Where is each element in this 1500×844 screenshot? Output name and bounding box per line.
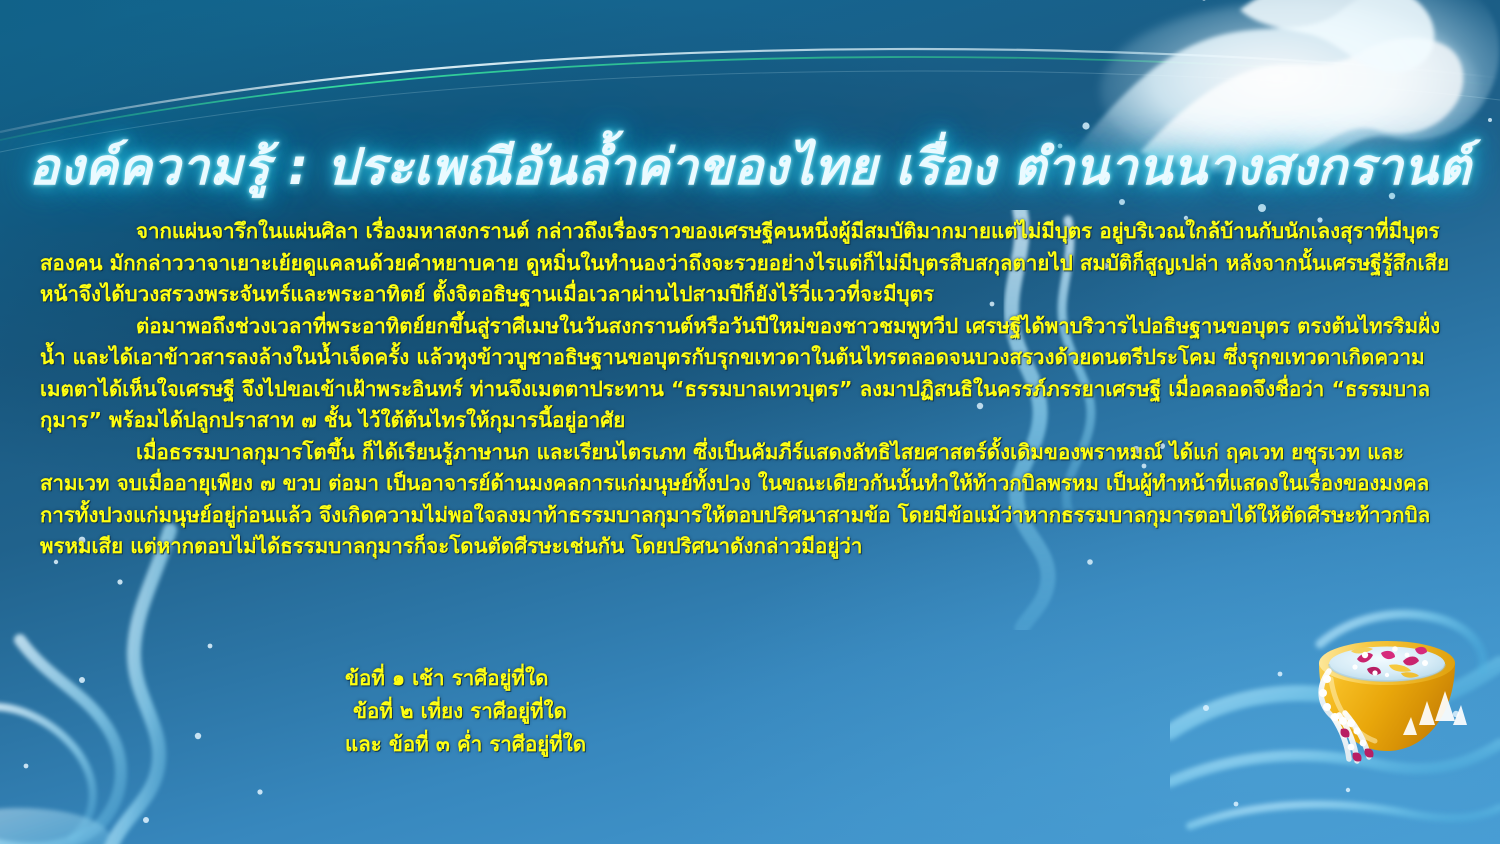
water-splash-left	[0, 520, 380, 844]
riddle-line-2: ข้อที่ ๒ เที่ยง ราศีอยู่ที่ใด	[353, 695, 586, 728]
paragraph-1: จากแผ่นจารึกในแผ่นศิลา เรื่องมหาสงกรานต์…	[40, 216, 1460, 311]
paragraph-1-text: จากแผ่นจารึกในแผ่นศิลา เรื่องมหาสงกรานต์…	[40, 219, 1449, 306]
slide-canvas: องค์ความรู้ : ประเพณีอันล้ำค่าของไทย เรื…	[0, 0, 1500, 844]
paragraph-2: ต่อมาพอถึงช่วงเวลาที่พระอาทิตย์ยกขึ้นสู่…	[40, 311, 1460, 437]
paragraph-3-text: เมื่อธรรมบาลกุมารโตขึ้น ก็ได้เรียนรู้ภาษ…	[40, 440, 1430, 559]
paragraph-3: เมื่อธรรมบาลกุมารโตขึ้น ก็ได้เรียนรู้ภาษ…	[40, 437, 1460, 563]
riddle-line-1: ข้อที่ ๑ เช้า ราศีอยู่ที่ใด	[345, 662, 586, 695]
article-body: จากแผ่นจารึกในแผ่นศิลา เรื่องมหาสงกรานต์…	[40, 216, 1460, 563]
riddle-line-3: และ ข้อที่ ๓ ค่ำ ราศีอยู่ที่ใด	[345, 728, 586, 761]
page-title: องค์ความรู้ : ประเพณีอันล้ำค่าของไทย เรื…	[0, 128, 1500, 207]
songkran-water-bowl-icon	[1295, 609, 1480, 769]
riddle-list: ข้อที่ ๑ เช้า ราศีอยู่ที่ใด ข้อที่ ๒ เที…	[345, 662, 586, 761]
paragraph-2-text: ต่อมาพอถึงช่วงเวลาที่พระอาทิตย์ยกขึ้นสู่…	[40, 314, 1440, 433]
